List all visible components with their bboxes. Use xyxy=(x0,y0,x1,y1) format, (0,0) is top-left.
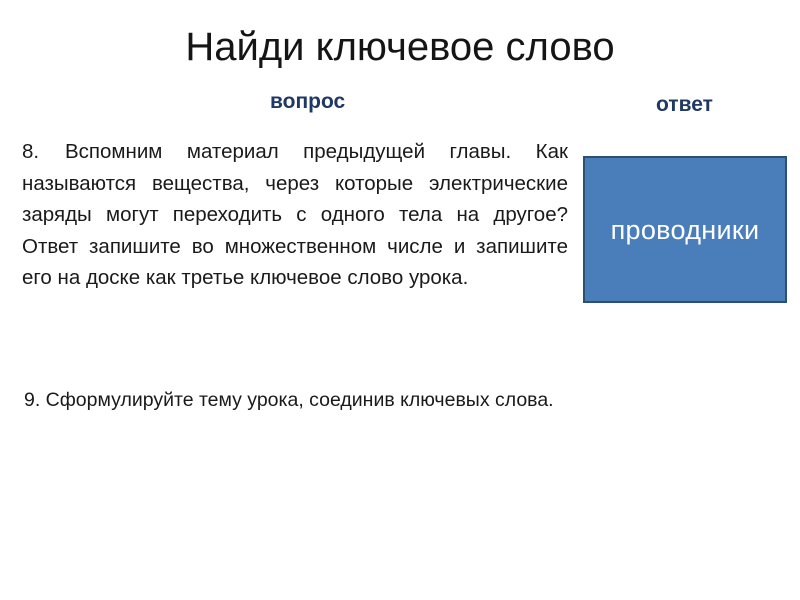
question-column-heading: вопрос xyxy=(270,90,345,114)
item-9-text: 9. Сформулируйте тему урока, соединив кл… xyxy=(24,387,724,413)
slide-canvas: Найди ключевое слово вопрос ответ 8.Вспо… xyxy=(0,0,800,600)
answer-box[interactable]: проводники xyxy=(583,156,787,303)
answer-text: проводники xyxy=(611,215,760,245)
question-number: 8. xyxy=(22,136,65,168)
answer-column-heading: ответ xyxy=(656,93,713,117)
question-block: 8.Вспомним материал предыдущей главы. Ка… xyxy=(22,136,568,294)
question-paragraph: 8.Вспомним материал предыдущей главы. Ка… xyxy=(22,136,568,294)
page-title: Найди ключевое слово xyxy=(0,22,800,72)
question-text: Вспомним материал предыдущей главы. Как … xyxy=(22,140,568,289)
